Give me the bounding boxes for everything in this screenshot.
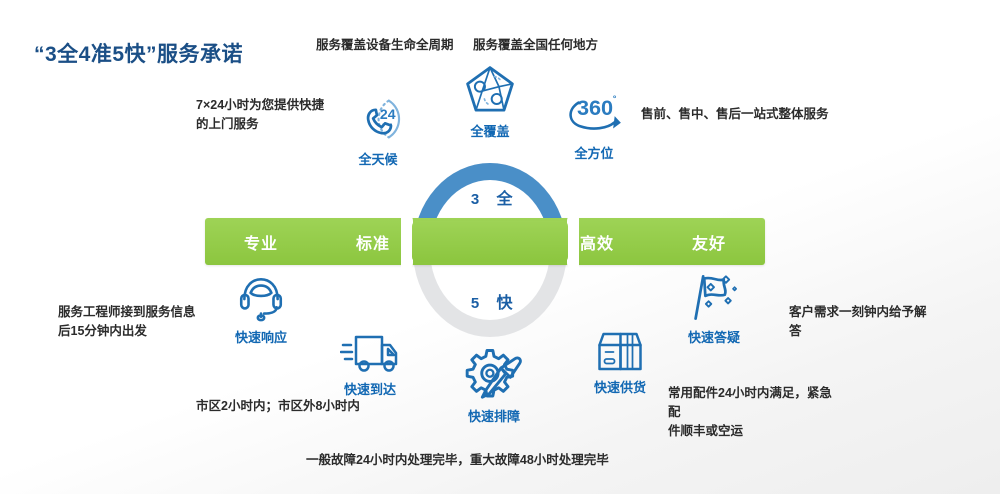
caption-7x24-service: 7×24小时为您提供快捷 的上门服务 [196, 96, 346, 134]
open-box-icon [592, 328, 648, 374]
center-word-5: 快 [496, 289, 513, 313]
criteria-center-pill [412, 221, 568, 262]
caption-parts-supply: 常用配件24小时内满足，紧急配 件顺丰或空运 [668, 384, 843, 441]
caption-engineer-15min: 服务工程师接到服务信息 后15分钟内出发 [58, 303, 218, 341]
caption-answer-15min: 客户需求一刻钟内给予解 答 [789, 303, 939, 341]
center-num-5: 5 [466, 295, 483, 312]
caption-fault-resolution: 一般故障24小时内处理完毕，重大故障48小时处理完毕 [306, 451, 609, 470]
icon-label-fast-response: 快速响应 [222, 327, 300, 346]
page-title: “3全4准5快”服务承诺 [34, 38, 243, 68]
gear-screwdriver-icon [464, 347, 524, 403]
center-row-5: 5快 [405, 289, 575, 313]
badge-360: 360 [577, 95, 613, 120]
360-arrow-icon: 360 ° [563, 88, 625, 140]
icon-block-fast-arrival[interactable]: 快速到达 [330, 330, 410, 398]
bar-segment-friendly[interactable]: 友好 [653, 230, 765, 254]
caption-coverage-nationwide: 服务覆盖全国任何地方 [473, 36, 598, 55]
phone-24h-icon: 24 [351, 92, 405, 146]
flag-sparkle-icon [686, 272, 742, 324]
caption-presale-aftersale: 售前、售中、售后一站式整体服务 [641, 105, 829, 124]
pentagon-network-icon [462, 62, 518, 118]
caption-coverage-lifecycle: 服务覆盖设备生命全周期 [316, 36, 454, 55]
bar-segment-professional[interactable]: 专业 [205, 230, 317, 254]
degree-sign: ° [613, 94, 617, 104]
icon-label-fast-arrival: 快速到达 [330, 379, 410, 398]
icon-block-fast-repair[interactable]: 快速排障 [452, 347, 536, 425]
icon-block-fast-supply[interactable]: 快速供货 [580, 328, 660, 396]
icon-label-full-coverage: 全覆盖 [450, 121, 530, 140]
center-row-3: 3全 [405, 185, 575, 209]
ring-notch-right [567, 214, 579, 270]
icon-block-fast-answer[interactable]: 快速答疑 [674, 272, 754, 346]
icon-label-fast-supply: 快速供货 [580, 377, 660, 396]
icon-label-fast-repair: 快速排障 [452, 406, 536, 425]
center-num-3: 3 [466, 191, 483, 208]
headset-icon [234, 272, 288, 324]
badge-24: 24 [380, 106, 396, 122]
caption-arrival-hours: 市区2小时内；市区外8小时内 [196, 397, 360, 416]
icon-block-full-coverage[interactable]: 全覆盖 [450, 62, 530, 140]
icon-block-omni[interactable]: 360 ° 全方位 [556, 88, 632, 162]
delivery-truck-icon [340, 330, 400, 376]
icon-label-fast-answer: 快速答疑 [674, 327, 754, 346]
service-promise-infographic: “3全4准5快”服务承诺 服务覆盖设备生命全周期 服务覆盖全国任何地方 7×24… [0, 0, 1000, 494]
icon-block-fast-response[interactable]: 快速响应 [222, 272, 300, 346]
center-word-3: 全 [496, 185, 513, 209]
